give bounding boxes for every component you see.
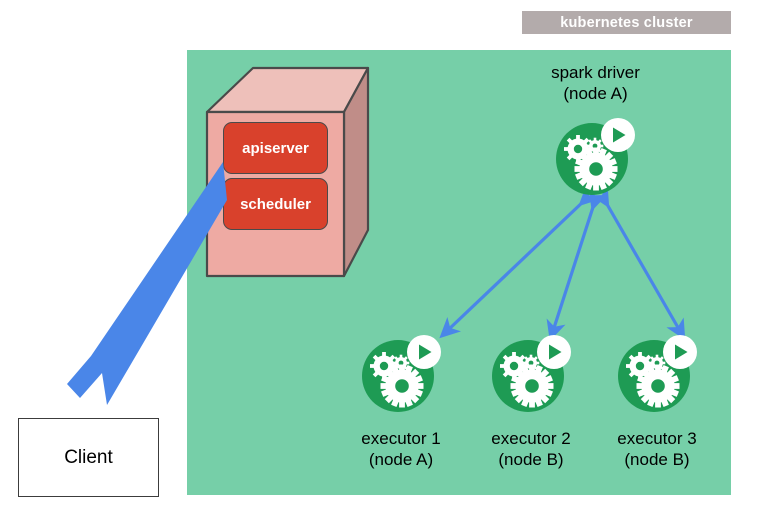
apiserver-label: apiserver [242,140,309,157]
control-plane-component-scheduler[interactable]: scheduler [223,178,328,230]
executor-2-node-icon[interactable] [490,332,572,414]
executor-1-title: executor 1 [331,428,471,449]
executor-2-title: executor 2 [461,428,601,449]
gears-play-icon [490,332,572,414]
executor-3-node-icon[interactable] [616,332,698,414]
diagram-canvas: kubernetes cluster apiserver scheduler s… [0,0,761,516]
spark-driver-subtitle: (node A) [503,83,688,104]
spark-driver-caption: spark driver (node A) [503,62,688,104]
gears-play-icon [616,332,698,414]
spark-driver-title: spark driver [503,62,688,83]
scheduler-label: scheduler [240,196,311,213]
executor-1-node-icon[interactable] [360,332,442,414]
gears-play-icon [360,332,442,414]
kubernetes-cluster-badge: kubernetes cluster [522,11,731,34]
executor-2-caption: executor 2 (node B) [461,428,601,470]
executor-1-caption: executor 1 (node A) [331,428,471,470]
executor-3-caption: executor 3 (node B) [587,428,727,470]
kubernetes-cluster-badge-label: kubernetes cluster [560,15,693,31]
gears-play-icon [554,115,636,197]
control-plane-component-apiserver[interactable]: apiserver [223,122,328,174]
executor-3-title: executor 3 [587,428,727,449]
spark-driver-node-icon[interactable] [554,115,636,197]
executor-3-subtitle: (node B) [587,449,727,470]
executor-1-subtitle: (node A) [331,449,471,470]
executor-2-subtitle: (node B) [461,449,601,470]
client-label: Client [64,447,113,469]
client-box[interactable]: Client [18,418,159,497]
